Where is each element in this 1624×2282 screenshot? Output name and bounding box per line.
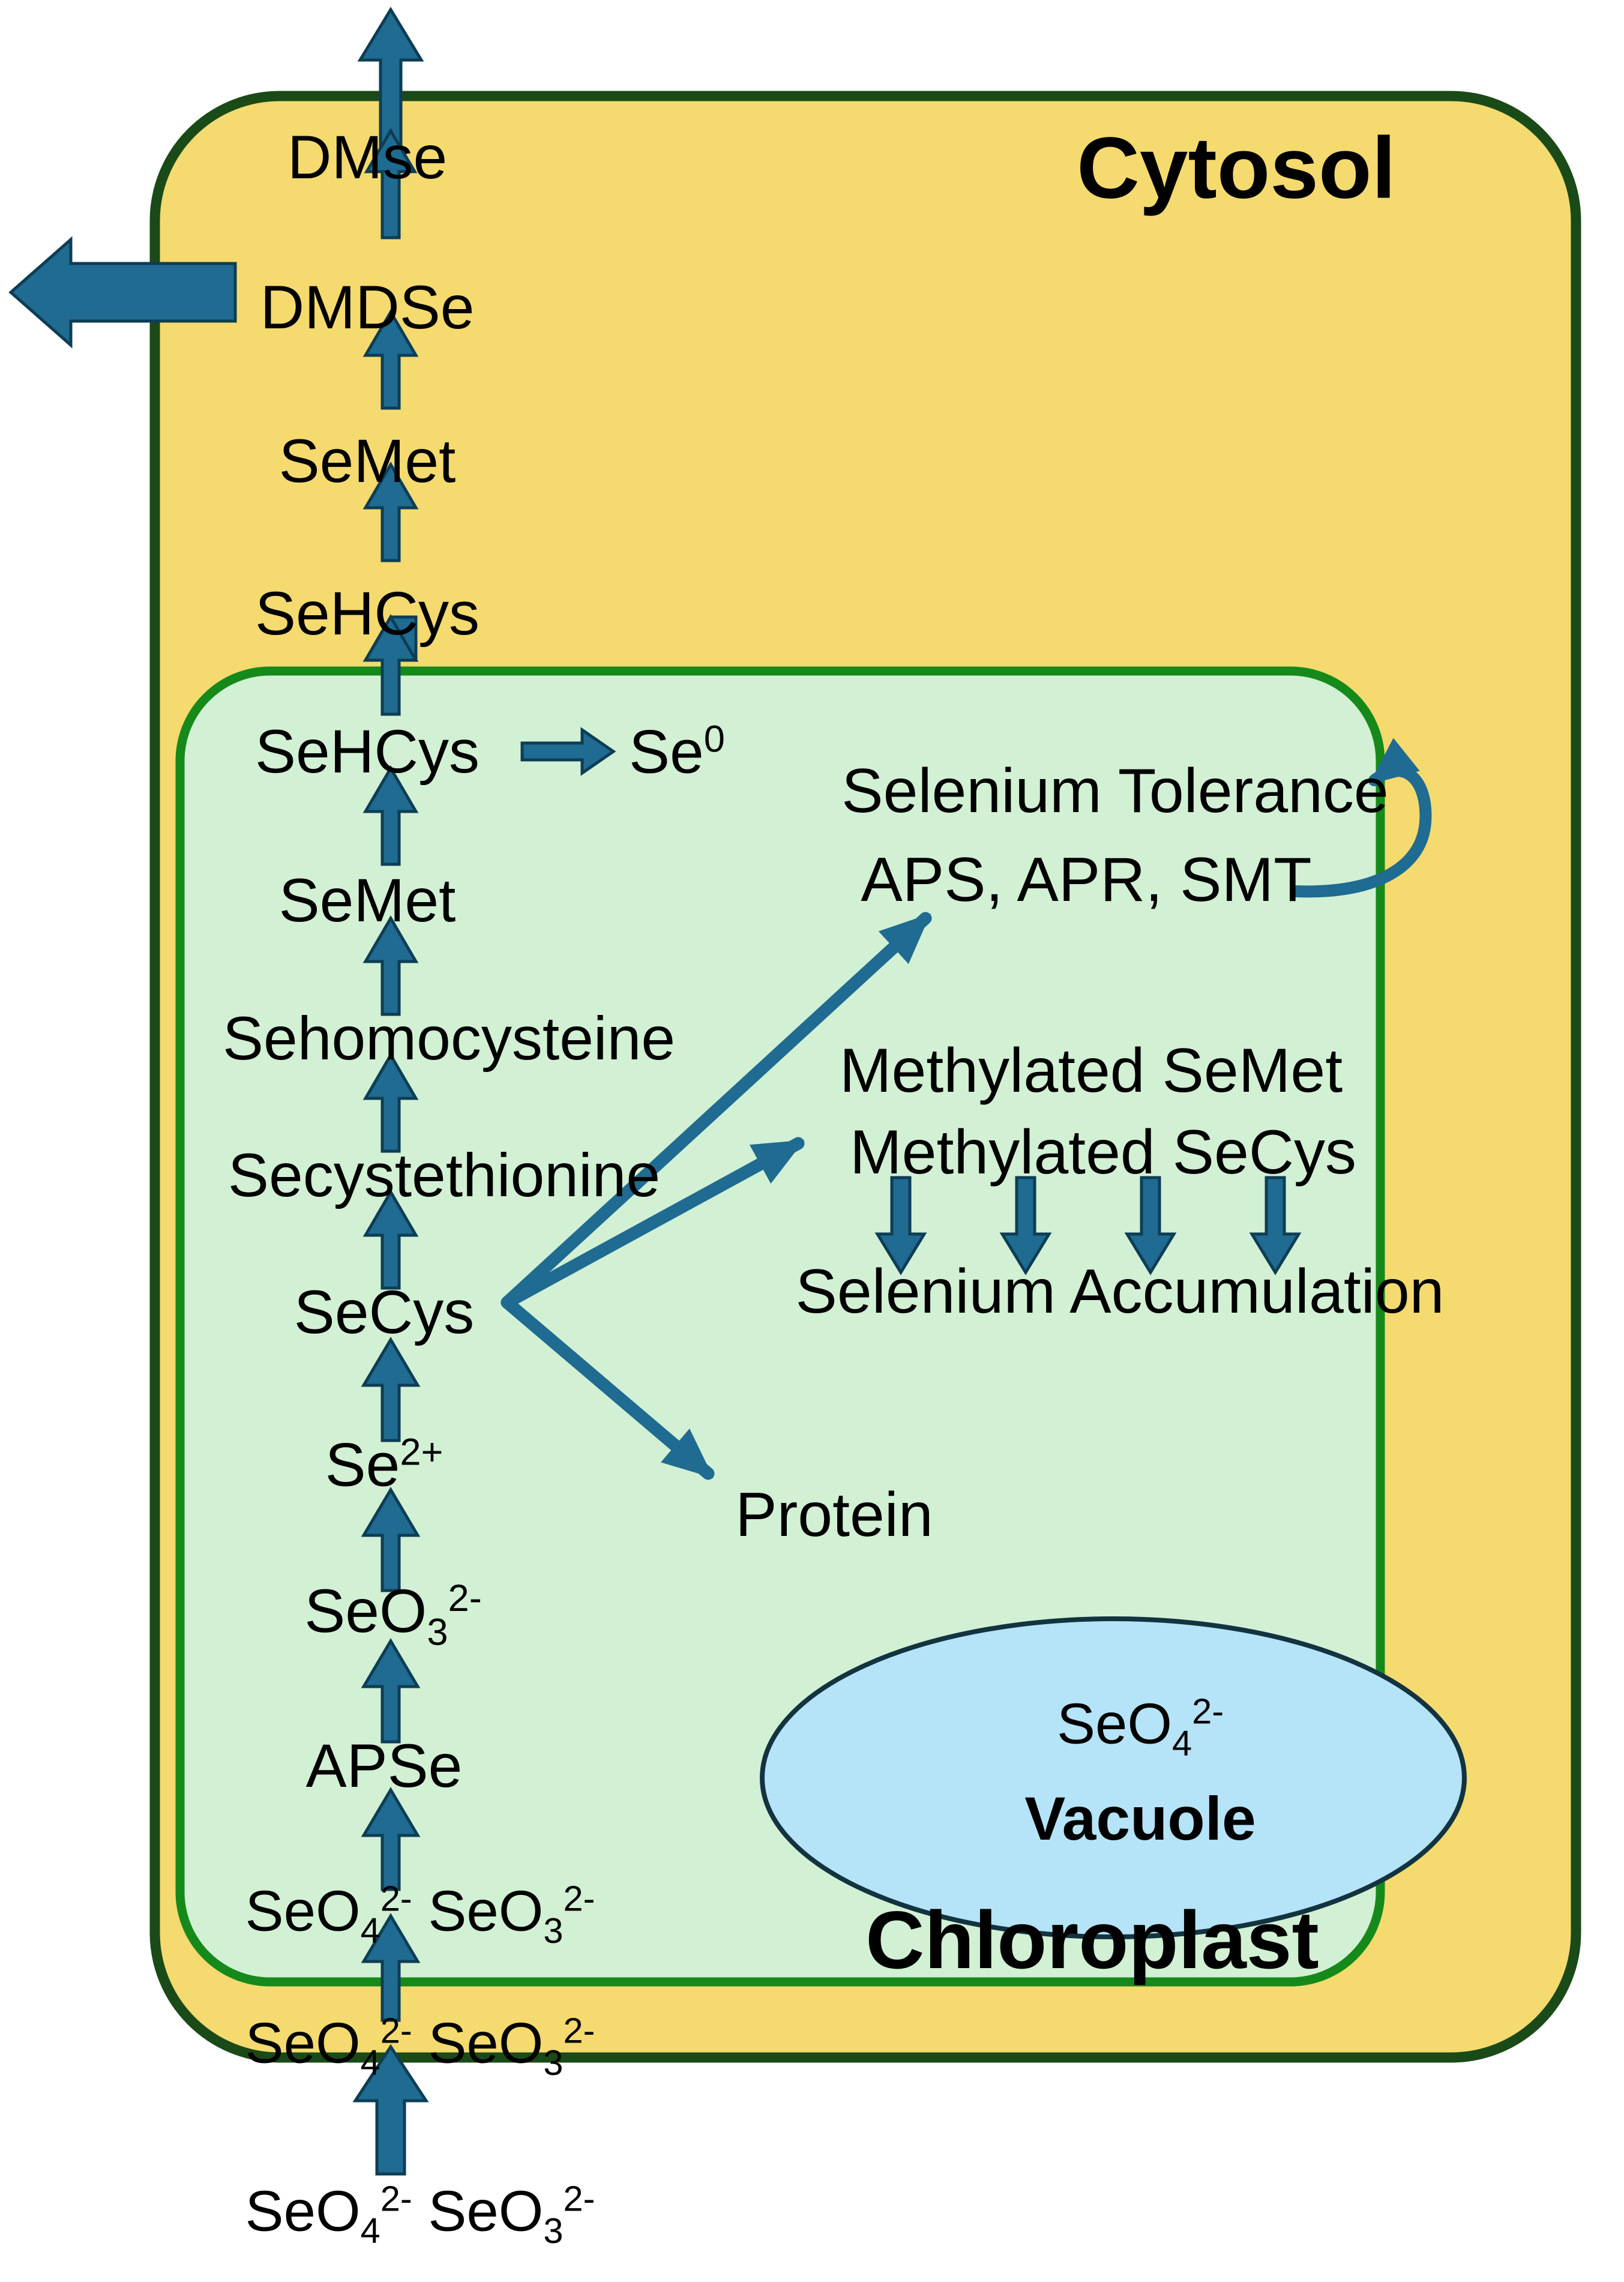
vacuole-selenate-superscript: 2- (1192, 1691, 1224, 1732)
node-sehomocysteine: Sehomocysteine (223, 1008, 675, 1069)
selenate-subscript-3: 4 (361, 2043, 380, 2083)
node-aps-apr-smt: APS, APR, SMT (861, 849, 1311, 911)
node-se-zero: Se0 (629, 721, 725, 783)
vacuole-shape (762, 1619, 1464, 1937)
node-secystethionine: Secystethionine (228, 1145, 660, 1206)
pathway-diagram: Cytosol DMse DMDSe SeMet SeHCys SeHCys S… (0, 0, 1624, 2282)
node-uptake-external: SeO42- SeO32- (245, 2181, 595, 2249)
node-semet-chloroplast: SeMet (279, 870, 456, 931)
selenate-superscript-4: 2- (380, 2179, 412, 2219)
node-methylated-secys: Methylated SeCys (850, 1121, 1356, 1184)
selenite-subscript: 3 (427, 1612, 448, 1654)
selenite-base-3: SeO (428, 2011, 543, 2076)
vacuole-selenate-base: SeO (1057, 1692, 1172, 1756)
node-secys: SeCys (294, 1281, 474, 1343)
selenate-superscript: 2- (380, 1879, 412, 1919)
node-apse: APSe (306, 1735, 463, 1796)
selenate-subscript: 4 (361, 1910, 380, 1951)
node-semet-cytosol: SeMet (279, 430, 456, 492)
selenite-superscript-3: 2- (564, 2011, 595, 2051)
node-uptake-cytosol: SeO42- SeO32- (245, 2013, 595, 2081)
node-uptake-chloroplast: SeO42- SeO32- (245, 1881, 595, 1949)
selenite-subscript-4: 3 (543, 2211, 563, 2251)
node-dmse: DMse (287, 127, 447, 188)
node-selenium-accumulation: Selenium Accumulation (795, 1260, 1444, 1323)
vacuole-selenate-subscript: 4 (1172, 1723, 1192, 1763)
selenate-superscript-3: 2- (380, 2011, 412, 2051)
cytosol-label: Cytosol (1077, 125, 1396, 212)
selenite-superscript: 2- (448, 1577, 482, 1619)
selenate-base-3: SeO (245, 2011, 361, 2076)
selenite-base-4: SeO (428, 2179, 543, 2244)
selenite-subscript-3: 3 (543, 2043, 563, 2083)
selenate-base-4: SeO (245, 2179, 361, 2244)
node-protein: Protein (735, 1484, 933, 1546)
se-2plus-base: Se (325, 1431, 400, 1499)
node-se-2plus: Se2+ (325, 1434, 444, 1496)
se-zero-superscript: 0 (704, 718, 725, 760)
selenate-base: SeO (245, 1879, 361, 1943)
selenite-base: SeO (304, 1577, 427, 1645)
chloroplast-label: Chloroplast (865, 1899, 1319, 1981)
vacuole-label: Vacuole (1024, 1788, 1256, 1849)
selenate-subscript-4: 4 (361, 2211, 380, 2251)
node-selenite: SeO32- (304, 1580, 482, 1652)
se-zero-base: Se (629, 718, 704, 786)
selenite-superscript-4: 2- (564, 2179, 595, 2219)
node-sehcys-cytosol: SeHCys (255, 583, 480, 644)
node-methylated-semet: Methylated SeMet (840, 1040, 1343, 1102)
selenite-superscript-2: 2- (564, 1879, 595, 1919)
node-selenium-tolerance: Selenium Tolerance (841, 760, 1389, 822)
selenite-base-2: SeO (428, 1879, 543, 1943)
node-sehcys-chloroplast: SeHCys (255, 721, 480, 782)
vacuole-content-selenate: SeO42- (1057, 1694, 1224, 1762)
selenite-subscript-2: 3 (543, 1910, 563, 1951)
node-dmdse: DMDSe (260, 277, 474, 338)
se-2plus-superscript: 2+ (400, 1432, 443, 1474)
